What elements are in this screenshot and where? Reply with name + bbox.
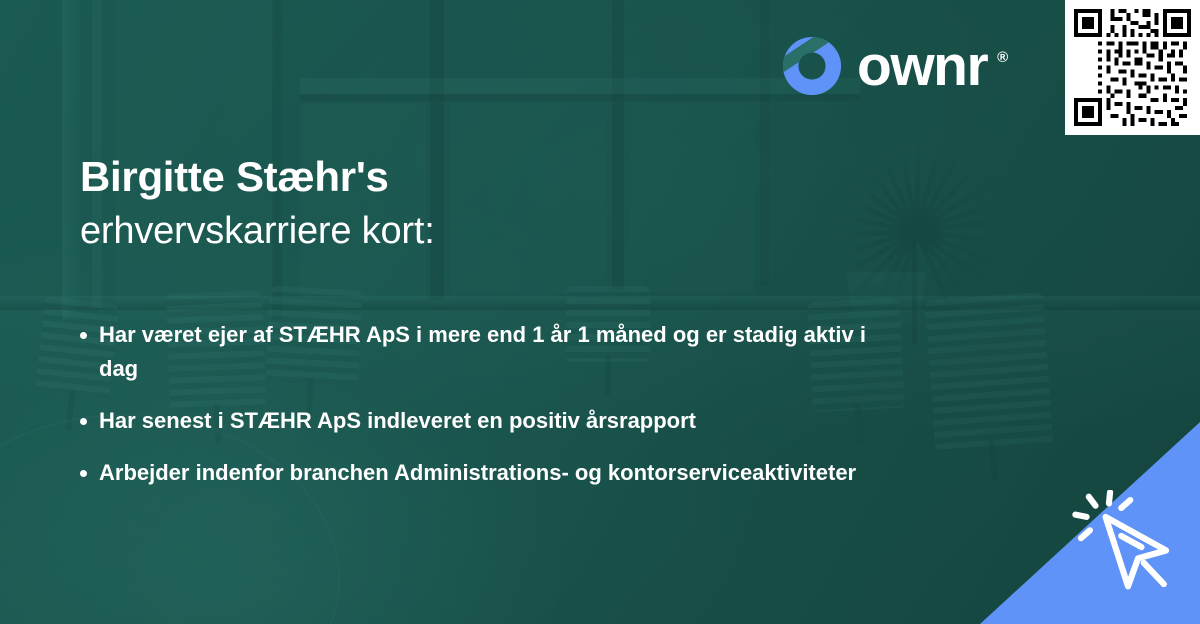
qr-code-icon bbox=[1074, 9, 1191, 126]
list-item-label: Arbejder indenfor branchen Administratio… bbox=[99, 456, 856, 490]
list-item-label: Har senest i STÆHR ApS indleveret en pos… bbox=[99, 404, 696, 438]
bullet-list: Har været ejer af STÆHR ApS i mere end 1… bbox=[80, 318, 1080, 508]
bullet-dot-icon bbox=[80, 418, 87, 425]
bullet-dot-icon bbox=[80, 470, 87, 477]
office-background-image bbox=[0, 0, 1200, 624]
bullet-dot-icon bbox=[80, 332, 87, 339]
title-line-1: Birgitte Stæhr's bbox=[80, 152, 1040, 201]
list-item: Har været ejer af STÆHR ApS i mere end 1… bbox=[80, 318, 1080, 386]
career-card: ownr ® bbox=[0, 0, 1200, 624]
registered-trademark-icon: ® bbox=[997, 49, 1008, 66]
page-title: Birgitte Stæhr's erhvervskarriere kort: bbox=[80, 152, 1040, 257]
brand-logo: ownr ® bbox=[781, 35, 1008, 97]
list-item-label: Har været ejer af STÆHR ApS i mere end 1… bbox=[99, 318, 889, 386]
list-item: Har senest i STÆHR ApS indleveret en pos… bbox=[80, 404, 1080, 438]
list-item: Arbejder indenfor branchen Administratio… bbox=[80, 456, 1080, 490]
ownr-circle-logo-icon bbox=[781, 35, 843, 97]
qr-code[interactable] bbox=[1065, 0, 1200, 135]
brand-name: ownr bbox=[857, 38, 987, 95]
title-line-2: erhvervskarriere kort: bbox=[80, 207, 1040, 256]
click-cursor-icon bbox=[1072, 490, 1184, 602]
